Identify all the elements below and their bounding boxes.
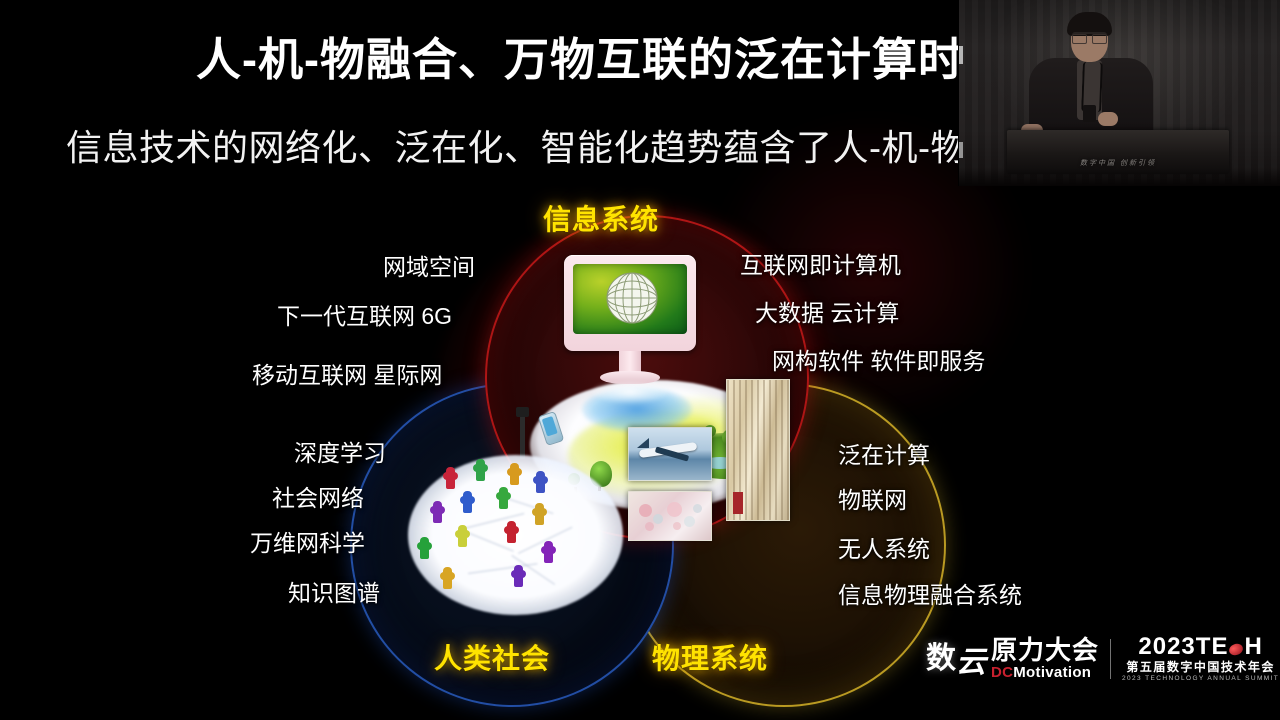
slide-stage: 人-机-物融合、万物互联的泛在计算时代 信息技术的网络化、泛在化、智能化趋势蕴含… (0, 0, 1280, 720)
person-icon (544, 541, 553, 563)
podium-text: 数字中国 创新引领 (1007, 158, 1229, 168)
venn-label-physical-system: 物理系统 (652, 637, 768, 677)
person-icon (446, 467, 455, 489)
person-icon (476, 459, 485, 481)
page-subtitle: 信息技术的网络化、泛在化、智能化趋势蕴含了人-机-物 (66, 126, 967, 169)
keyword-top-left-3: 移动互联网 星际网 (252, 356, 442, 390)
stage-screen-edge (958, 142, 963, 158)
summit-title-cn: 第五届数字中国技术年会 (1126, 661, 1275, 673)
venn-label-human-society: 人类社会 (434, 637, 550, 677)
logo-brand-en-motivation: Motivation (1013, 664, 1091, 681)
keyword-bottom-left-3: 万维网科学 (250, 524, 365, 558)
globe-icon (604, 270, 660, 326)
person-icon (536, 471, 545, 493)
keyword-bottom-right-3: 无人系统 (838, 530, 930, 564)
logo-divider (1110, 639, 1111, 679)
summit-year-tech: 2023TEH (1138, 635, 1262, 659)
computer-monitor-icon (564, 255, 696, 387)
stage-screen-edge (958, 46, 963, 64)
keyword-top-right-1: 互联网即计算机 (740, 246, 901, 280)
summit-accent-dot (1228, 642, 1245, 657)
eyeglasses-icon (1072, 32, 1107, 42)
keyword-bottom-right-4: 信息物理融合系统 (838, 576, 1022, 610)
summit-logo: 2023TEH 第五届数字中国技术年会 2023 TECHNOLOGY ANNU… (1122, 635, 1279, 683)
photo-molecules (628, 491, 712, 541)
page-title: 人-机-物融合、万物互联的泛在计算时代 (196, 34, 1010, 86)
photo-airplane (628, 427, 712, 481)
summit-tech-tail: H (1244, 633, 1262, 660)
keyword-bottom-right-2: 物联网 (838, 481, 907, 515)
speaker-hand-right (1098, 112, 1118, 126)
logo-brand-cloud: 云 (956, 637, 987, 681)
person-icon (458, 525, 467, 547)
person-icon (433, 501, 442, 523)
signal-pole-icon (520, 415, 525, 459)
keyword-top-left-1: 网域空间 (383, 248, 475, 282)
keyword-bottom-left-1: 深度学习 (294, 434, 386, 468)
keyword-bottom-left-2: 社会网络 (272, 479, 364, 513)
photo-skyscraper (726, 379, 790, 521)
conference-logo: 数 云 原力大会 DCMotivation 2023TEH 第五届数字中国技术年… (926, 632, 1279, 686)
person-icon (499, 487, 508, 509)
logo-brand-en-dc: DC (991, 664, 1013, 681)
logo-brand-en: DCMotivation (991, 665, 1099, 682)
person-icon (507, 521, 516, 543)
summit-title-en: 2023 TECHNOLOGY ANNUAL SUMMIT (1122, 676, 1279, 683)
keyword-top-right-2: 大数据 云计算 (755, 294, 899, 328)
venn-label-information-system: 信息系统 (543, 198, 659, 238)
logo-brand-cn-1: 数 (926, 644, 956, 674)
person-icon (443, 567, 452, 589)
person-icon (420, 537, 429, 559)
person-icon (463, 491, 472, 513)
summit-year-label: 2023TE (1138, 633, 1228, 660)
video-bottom-fade (959, 168, 1280, 186)
person-icon (514, 565, 523, 587)
keyword-top-right-3: 网构软件 软件即服务 (772, 342, 985, 376)
keyword-top-left-2: 下一代互联网 6G (277, 297, 452, 331)
person-icon (535, 503, 544, 525)
person-icon (510, 463, 519, 485)
logo-brand-cn-2: 原力大会 (991, 637, 1099, 663)
keyword-bottom-left-4: 知识图谱 (288, 574, 380, 608)
keyword-bottom-right-1: 泛在计算 (838, 436, 930, 470)
speaker-badge (1083, 105, 1096, 122)
speaker-video-overlay[interactable]: 数字中国 创新引领 (958, 0, 1280, 186)
